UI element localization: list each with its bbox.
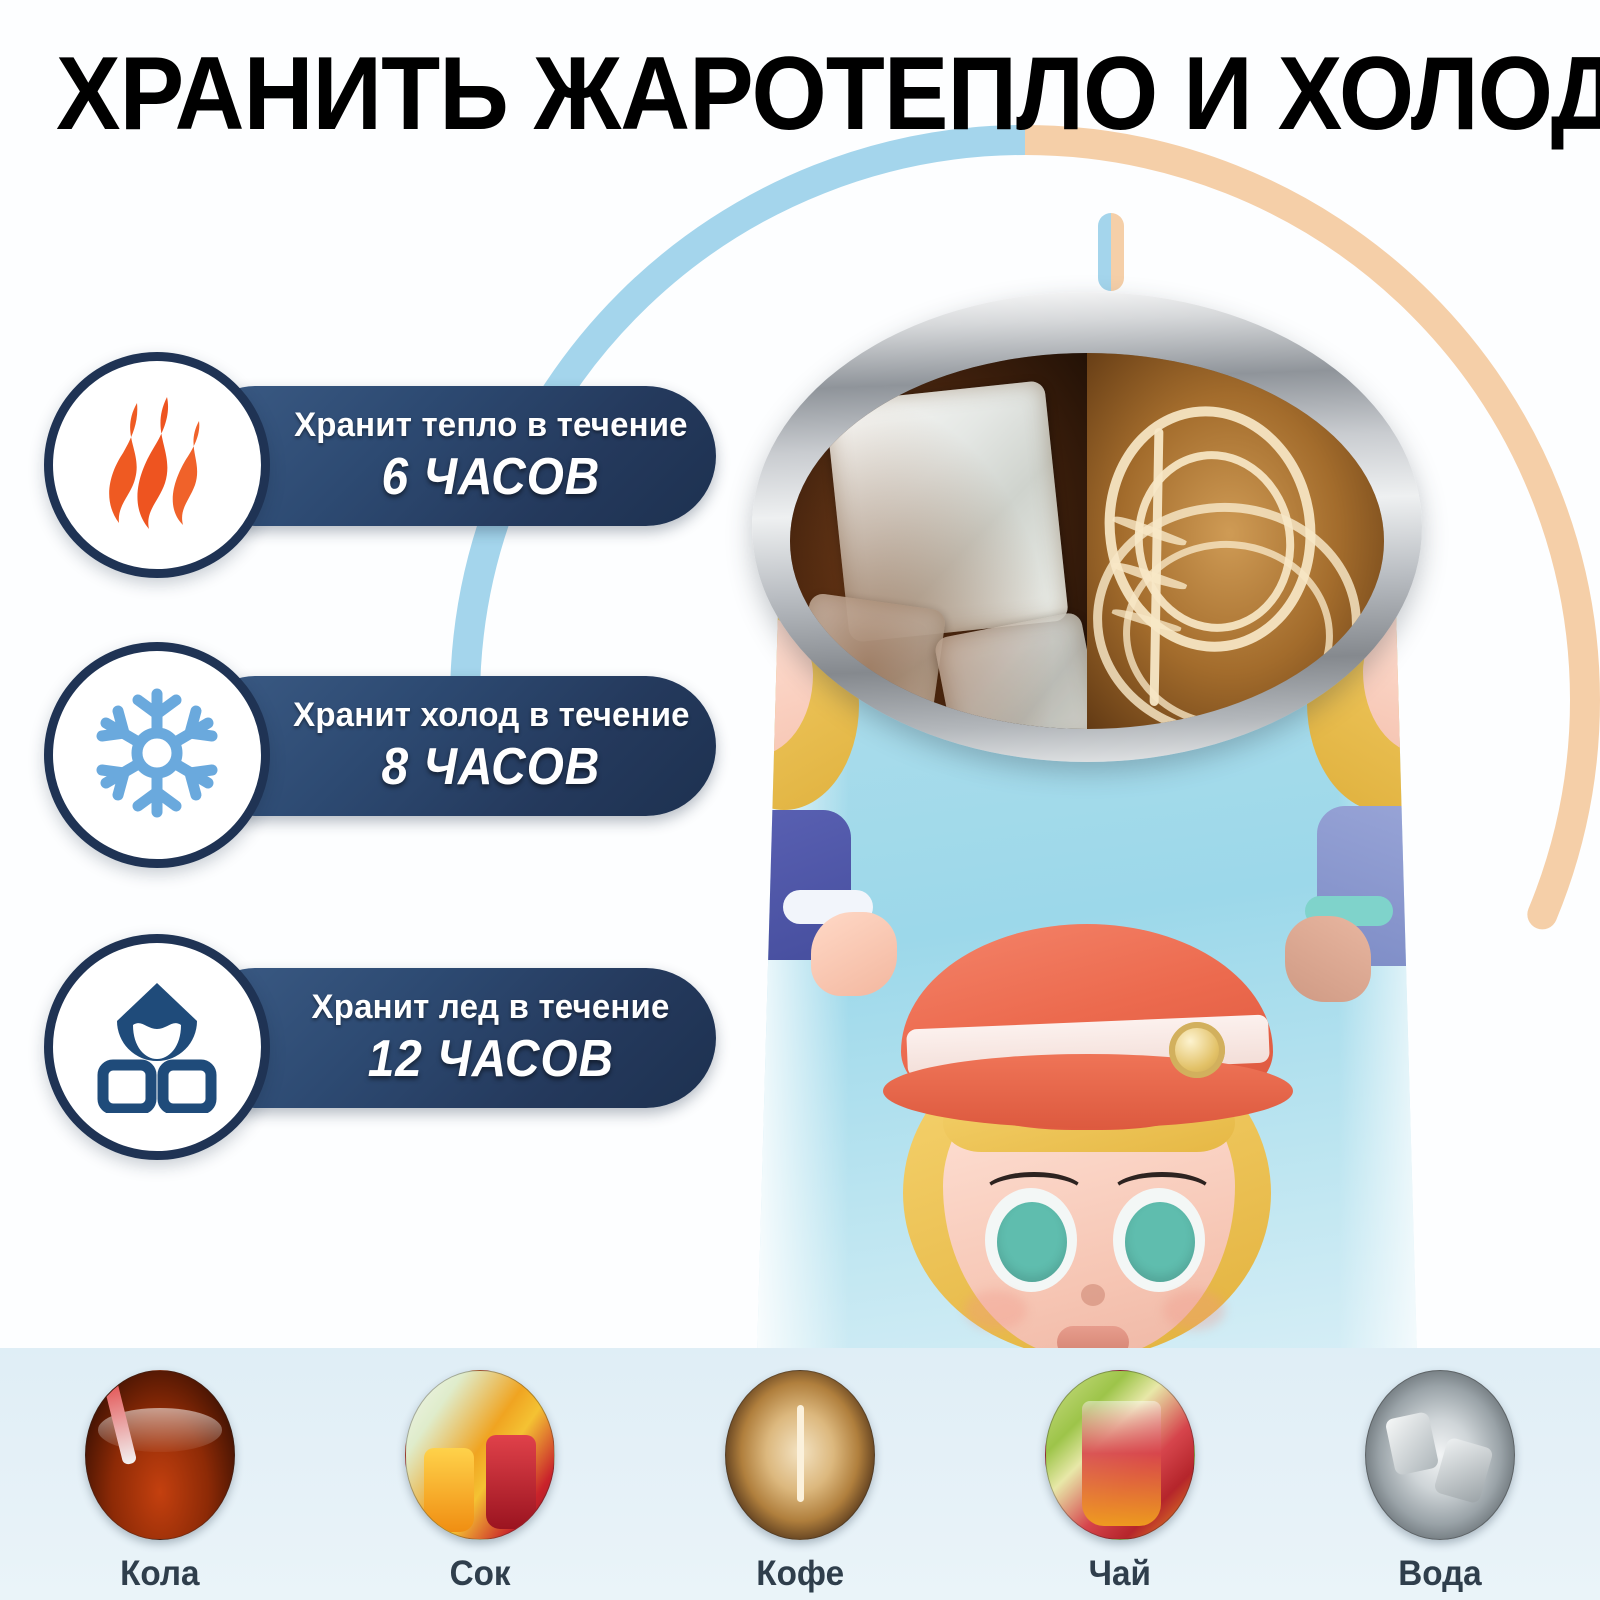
- tea-glass-icon: [1045, 1370, 1195, 1540]
- ice-water-glass-icon: [1365, 1370, 1515, 1540]
- arc-split-tick: [1098, 213, 1124, 291]
- snowflake-icon: [88, 684, 226, 827]
- feature-line2: 6 ЧАСОВ: [382, 447, 601, 507]
- drink-item-water[interactable]: Вода: [1280, 1348, 1600, 1600]
- drinks-strip: Кола Сок Кофе Чай Вода: [0, 1348, 1600, 1600]
- drink-label: Вода: [1398, 1554, 1481, 1594]
- drink-label: Кола: [120, 1554, 199, 1594]
- hot-latte-half: [1087, 353, 1384, 729]
- feature-line1: Хранит тепло в течение: [294, 406, 688, 445]
- feature-line1: Хранит холод в течение: [293, 696, 690, 735]
- drink-label: Чай: [1089, 1554, 1151, 1594]
- juice-jars-icon: [405, 1370, 555, 1540]
- cola-glass-icon: [85, 1370, 235, 1540]
- feature-line2: 12 ЧАСОВ: [368, 1029, 614, 1089]
- tumbler-lid-top-view: [752, 292, 1422, 762]
- ice-cube-icon: [89, 977, 225, 1118]
- feature-icon-circle-ice: [44, 934, 270, 1160]
- feature-badge-list: Хранит тепло в течение 6 ЧАСОВ Хранит хо…: [0, 0, 760, 1300]
- lid-liquid-view: [790, 353, 1385, 729]
- latte-cup-icon: [725, 1370, 875, 1540]
- flame-icon: [93, 395, 221, 536]
- drink-item-juice[interactable]: Сок: [320, 1348, 640, 1600]
- drinks-list: Кола Сок Кофе Чай Вода: [0, 1348, 1600, 1600]
- infographic-canvas: Хранит тепло в течение 6 ЧАСОВ Хранит хо…: [0, 0, 1600, 1600]
- feature-icon-circle-heat: [44, 352, 270, 578]
- drink-item-cola[interactable]: Кола: [0, 1348, 320, 1600]
- drink-item-coffee[interactable]: Кофе: [640, 1348, 960, 1600]
- iced-coffee-half: [790, 353, 1087, 729]
- page-title: ХРАНИТЬ ЖАРОТЕПЛО И ХОЛОД: [56, 40, 1544, 149]
- feature-icon-circle-cold: [44, 642, 270, 868]
- drink-label: Сок: [450, 1554, 511, 1594]
- drink-item-tea[interactable]: Чай: [960, 1348, 1280, 1600]
- feature-line1: Хранит лед в течение: [312, 988, 670, 1027]
- hat-button: [1169, 1022, 1225, 1078]
- drink-label: Кофе: [756, 1554, 844, 1594]
- feature-line2: 8 ЧАСОВ: [382, 737, 601, 797]
